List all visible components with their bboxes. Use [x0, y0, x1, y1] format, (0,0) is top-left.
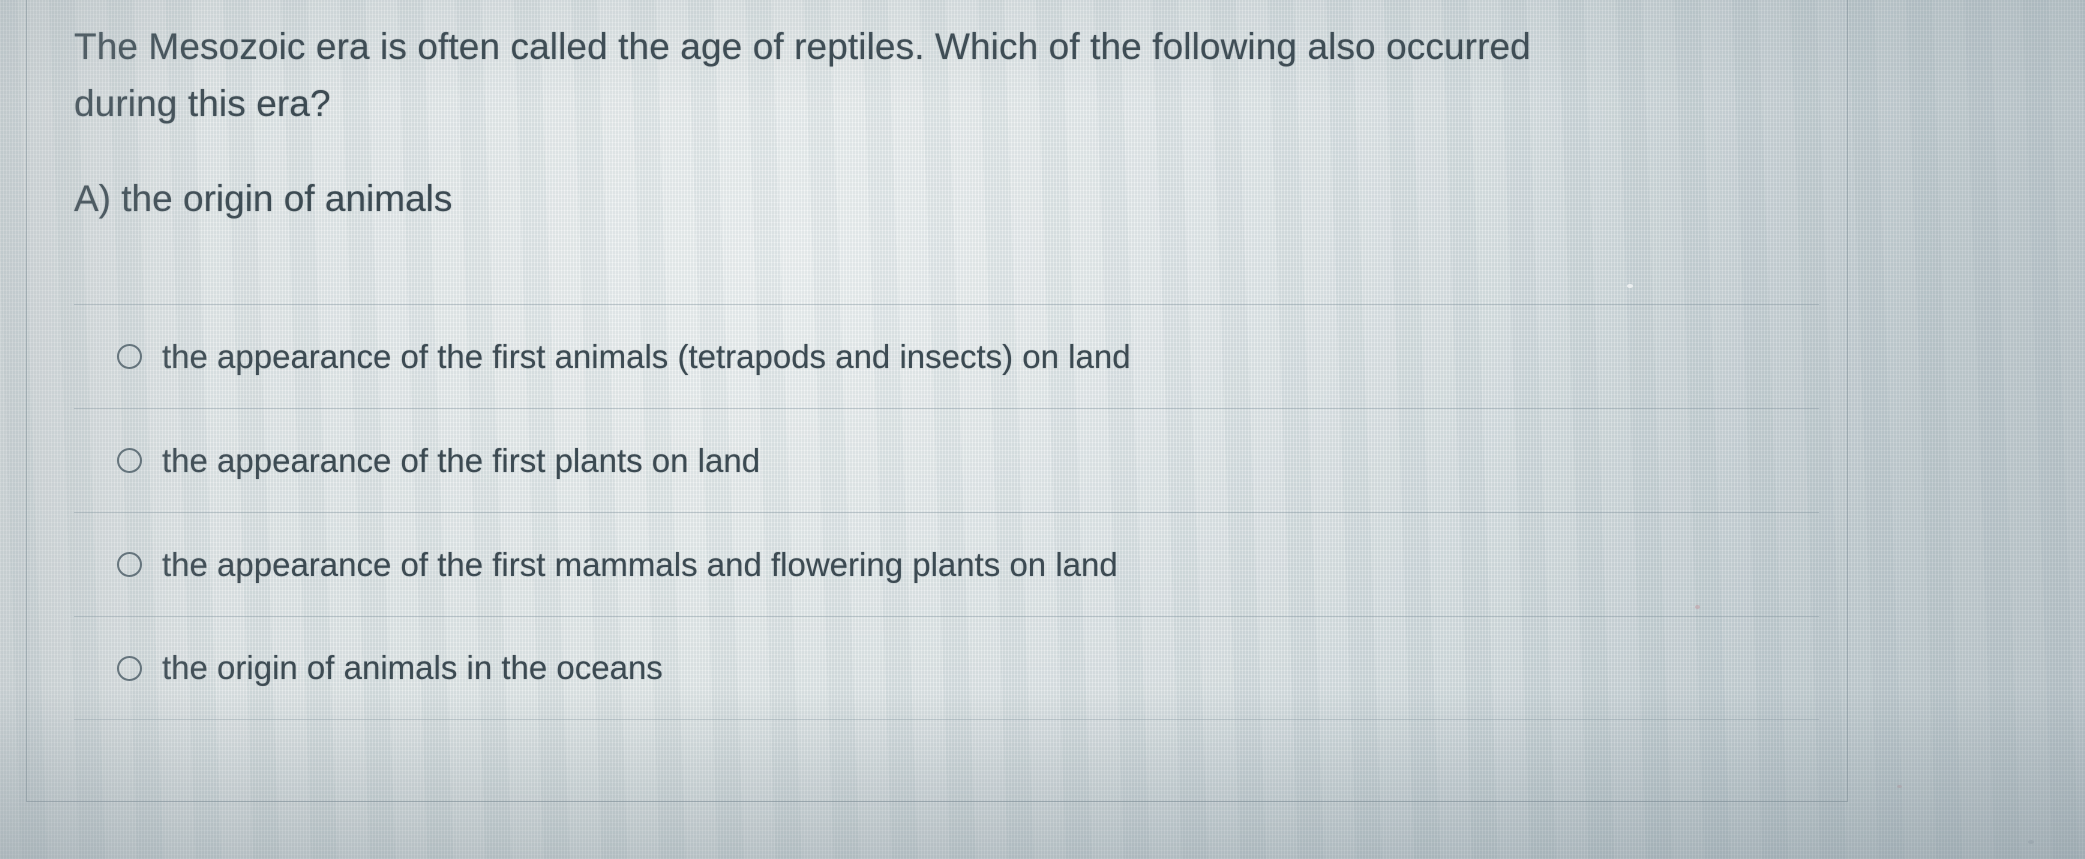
quiz-question-screenshot: The Mesozoic era is often called the age… [0, 0, 2085, 859]
answer-option-label: the appearance of the first plants on la… [162, 441, 760, 481]
radio-unselected-icon[interactable] [117, 344, 142, 369]
radio-unselected-icon[interactable] [117, 448, 142, 473]
radio-unselected-icon[interactable] [117, 656, 142, 681]
answer-options-list: the appearance of the first animals (tet… [74, 304, 1819, 720]
answer-option-label: the appearance of the first animals (tet… [162, 337, 1131, 377]
selected-answer-label: A) the origin of animals [74, 170, 1754, 227]
question-line-1: The Mesozoic era is often called the age… [74, 18, 1754, 75]
quiz-card: The Mesozoic era is often called the age… [26, 0, 1848, 802]
answer-option-label: the origin of animals in the oceans [162, 648, 663, 688]
answer-option-1[interactable]: the appearance of the first animals (tet… [74, 304, 1819, 408]
answer-option-4[interactable]: the origin of animals in the oceans [74, 616, 1819, 720]
answer-option-label: the appearance of the first mammals and … [162, 545, 1118, 585]
question-line-2: during this era? [74, 75, 1754, 132]
answer-option-2[interactable]: the appearance of the first plants on la… [74, 408, 1819, 512]
question-block: The Mesozoic era is often called the age… [74, 18, 1754, 227]
answer-option-3[interactable]: the appearance of the first mammals and … [74, 512, 1819, 616]
radio-unselected-icon[interactable] [117, 552, 142, 577]
